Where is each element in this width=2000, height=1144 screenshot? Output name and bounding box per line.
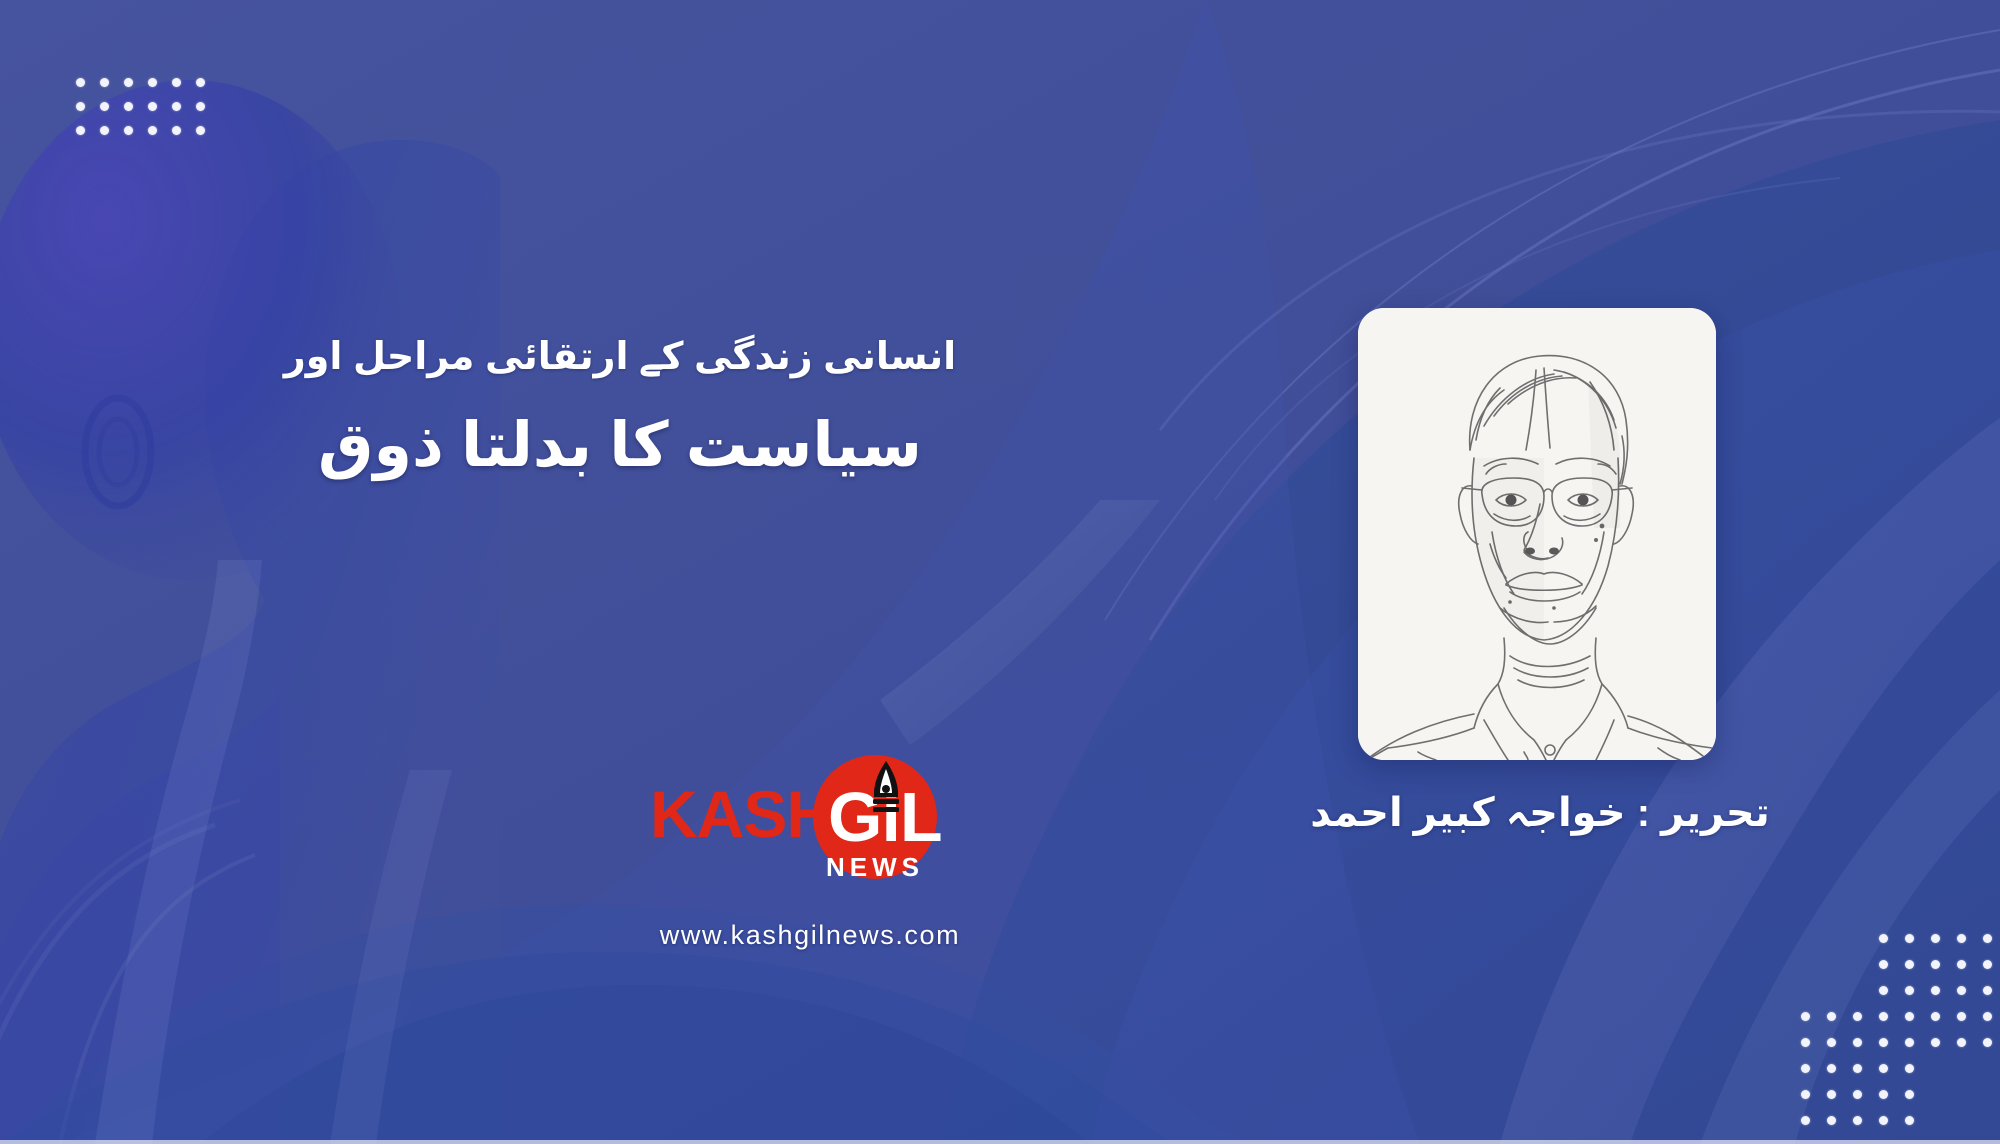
grid-br-dot-4-4	[1879, 1038, 1888, 1047]
logo-text-news: NEWS	[826, 852, 924, 882]
decorative-dot-grid-top-left	[68, 70, 212, 142]
grid-br-dot-5-4	[1879, 1064, 1888, 1073]
grid-br-dot-3-3	[1905, 1012, 1914, 1021]
author-portrait-card	[1358, 308, 1716, 760]
grid-tl-dot-2-3	[124, 126, 133, 135]
grid-br-dot-6-4	[1879, 1090, 1888, 1099]
grid-tl-dot-0-1	[172, 78, 181, 87]
grid-tl-dot-1-2	[148, 102, 157, 111]
grid-br-dot-1-4	[1879, 960, 1888, 969]
grid-br-dot-5-7	[1801, 1064, 1810, 1073]
grid-br-dot-6-5	[1853, 1090, 1862, 1099]
decorative-dot-grid-bottom-right	[1792, 925, 2000, 1133]
grid-br-dot-4-1	[1957, 1038, 1966, 1047]
grid-br-dot-0-4	[1879, 934, 1888, 943]
grid-br-dot-6-3	[1905, 1090, 1914, 1099]
grid-br-dot-4-7	[1801, 1038, 1810, 1047]
grid-br-dot-3-5	[1853, 1012, 1862, 1021]
grid-tl-dot-0-4	[100, 78, 109, 87]
grid-br-dot-0-2	[1931, 934, 1940, 943]
grid-br-dot-4-2	[1931, 1038, 1940, 1047]
grid-br-dot-0-1	[1957, 934, 1966, 943]
grid-br-dot-3-1	[1957, 1012, 1966, 1021]
grid-br-dot-0-3	[1905, 934, 1914, 943]
headline-block: انسانی زندگی کے ارتقائی مراحل اور سیاست …	[170, 330, 1070, 492]
grid-br-dot-1-3	[1905, 960, 1914, 969]
grid-tl-dot-1-5	[76, 102, 85, 111]
grid-br-dot-1-2	[1931, 960, 1940, 969]
grid-tl-dot-0-2	[148, 78, 157, 87]
grid-br-dot-2-1	[1957, 986, 1966, 995]
grid-br-dot-5-6	[1827, 1064, 1836, 1073]
grid-br-dot-0-0	[1983, 934, 1992, 943]
grid-br-dot-4-6	[1827, 1038, 1836, 1047]
grid-br-dot-3-7	[1801, 1012, 1810, 1021]
grid-br-dot-2-3	[1905, 986, 1914, 995]
grid-tl-dot-1-3	[124, 102, 133, 111]
grid-br-dot-7-6	[1827, 1116, 1836, 1125]
grid-tl-dot-0-5	[76, 78, 85, 87]
grid-br-dot-2-0	[1983, 986, 1992, 995]
article-banner: انسانی زندگی کے ارتقائی مراحل اور سیاست …	[0, 0, 2000, 1144]
grid-br-dot-4-3	[1905, 1038, 1914, 1047]
site-url[interactable]: www.kashgilnews.com	[600, 920, 1020, 951]
grid-br-dot-7-7	[1801, 1116, 1810, 1125]
grid-br-dot-4-5	[1853, 1038, 1862, 1047]
grid-br-dot-3-4	[1879, 1012, 1888, 1021]
grid-br-dot-3-2	[1931, 1012, 1940, 1021]
grid-br-dot-6-6	[1827, 1090, 1836, 1099]
grid-br-dot-7-5	[1853, 1116, 1862, 1125]
grid-br-dot-7-3	[1905, 1116, 1914, 1125]
author-byline: تحریر : خواجہ کبیر احمد	[1280, 790, 1800, 836]
grid-tl-dot-0-3	[124, 78, 133, 87]
grid-br-dot-6-7	[1801, 1090, 1810, 1099]
grid-br-dot-2-2	[1931, 986, 1940, 995]
logo-artwork: KASH GiL NEWS	[640, 745, 970, 885]
grid-tl-dot-1-1	[172, 102, 181, 111]
grid-br-dot-1-1	[1957, 960, 1966, 969]
grid-tl-dot-1-4	[100, 102, 109, 111]
grid-br-dot-1-0	[1983, 960, 1992, 969]
headline-line-1: انسانی زندگی کے ارتقائی مراحل اور	[170, 330, 1070, 385]
kashgil-news-logo[interactable]: KASH GiL NEWS	[640, 745, 970, 885]
grid-br-dot-2-4	[1879, 986, 1888, 995]
grid-br-dot-4-0	[1983, 1038, 1992, 1047]
grid-br-dot-7-4	[1879, 1116, 1888, 1125]
grid-tl-dot-1-0	[196, 102, 205, 111]
grid-tl-dot-2-4	[100, 126, 109, 135]
grid-br-dot-3-0	[1983, 1012, 1992, 1021]
headline-line-2: سیاست کا بدلتا ذوق	[170, 399, 1070, 492]
grid-tl-dot-2-5	[76, 126, 85, 135]
grid-br-dot-5-3	[1905, 1064, 1914, 1073]
grid-tl-dot-0-0	[196, 78, 205, 87]
grid-br-dot-5-5	[1853, 1064, 1862, 1073]
grid-tl-dot-2-0	[196, 126, 205, 135]
logo-text-kash: KASH	[650, 777, 833, 851]
author-portrait-sketch	[1358, 308, 1716, 760]
grid-br-dot-3-6	[1827, 1012, 1836, 1021]
grid-tl-dot-2-2	[148, 126, 157, 135]
grid-tl-dot-2-1	[172, 126, 181, 135]
